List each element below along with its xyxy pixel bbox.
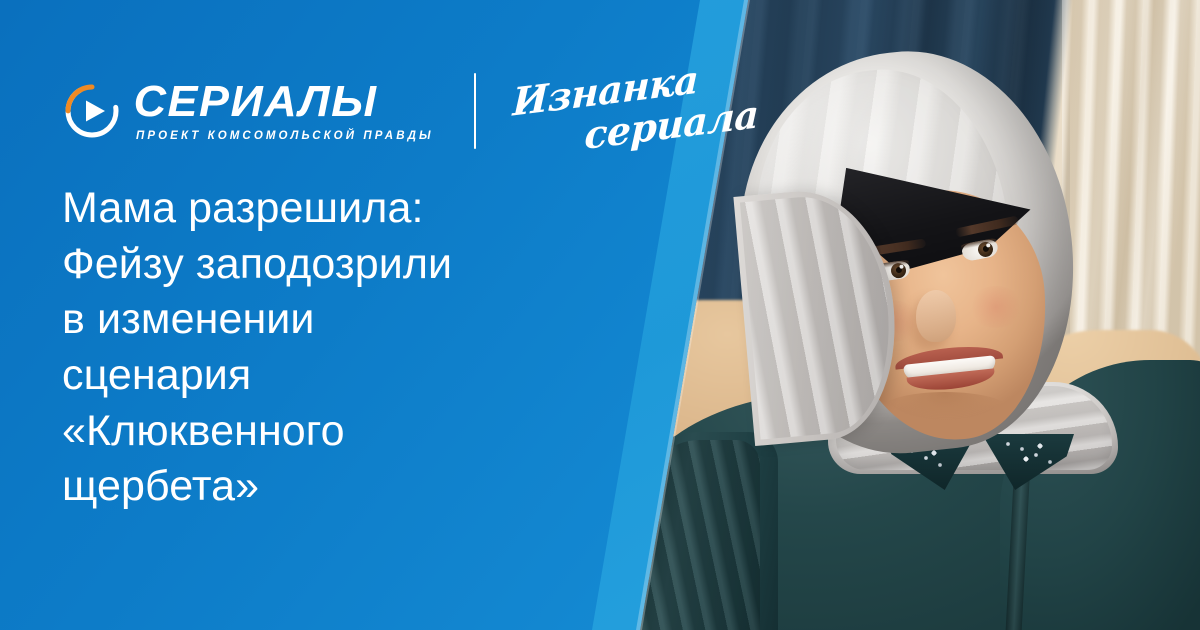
logo-divider xyxy=(474,73,476,149)
headline-line: в изменении xyxy=(62,292,582,348)
headline-line: сценария xyxy=(62,348,582,404)
social-card: СЕРИАЛЫ ПРОЕКТ КОМСОМОЛЬСКОЙ ПРАВДЫ Изна… xyxy=(0,0,1200,630)
section-logo-izanka-seriala: Изнанка сериала xyxy=(512,72,762,150)
brand-block: СЕРИАЛЫ ПРОЕКТ КОМСОМОЛЬСКОЙ ПРАВДЫ xyxy=(136,80,434,143)
cheek-right xyxy=(968,286,1024,328)
nose xyxy=(916,290,956,342)
brand-wordmark: СЕРИАЛЫ xyxy=(134,80,378,124)
headline: Мама разрешила: Фейзу заподозрили в изме… xyxy=(62,181,582,515)
headline-line: щербета» xyxy=(62,459,582,515)
headline-line: «Клюквенного xyxy=(62,404,582,460)
chin-shadow xyxy=(880,392,1010,428)
headline-line: Фейзу заподозрили xyxy=(62,237,582,293)
play-circle-icon[interactable] xyxy=(62,81,122,141)
brand-tagline: ПРОЕКТ КОМСОМОЛЬСКОЙ ПРАВДЫ xyxy=(136,131,434,143)
logo-bar: СЕРИАЛЫ ПРОЕКТ КОМСОМОЛЬСКОЙ ПРАВДЫ Изна… xyxy=(62,72,762,150)
headline-line: Мама разрешила: xyxy=(62,181,582,237)
